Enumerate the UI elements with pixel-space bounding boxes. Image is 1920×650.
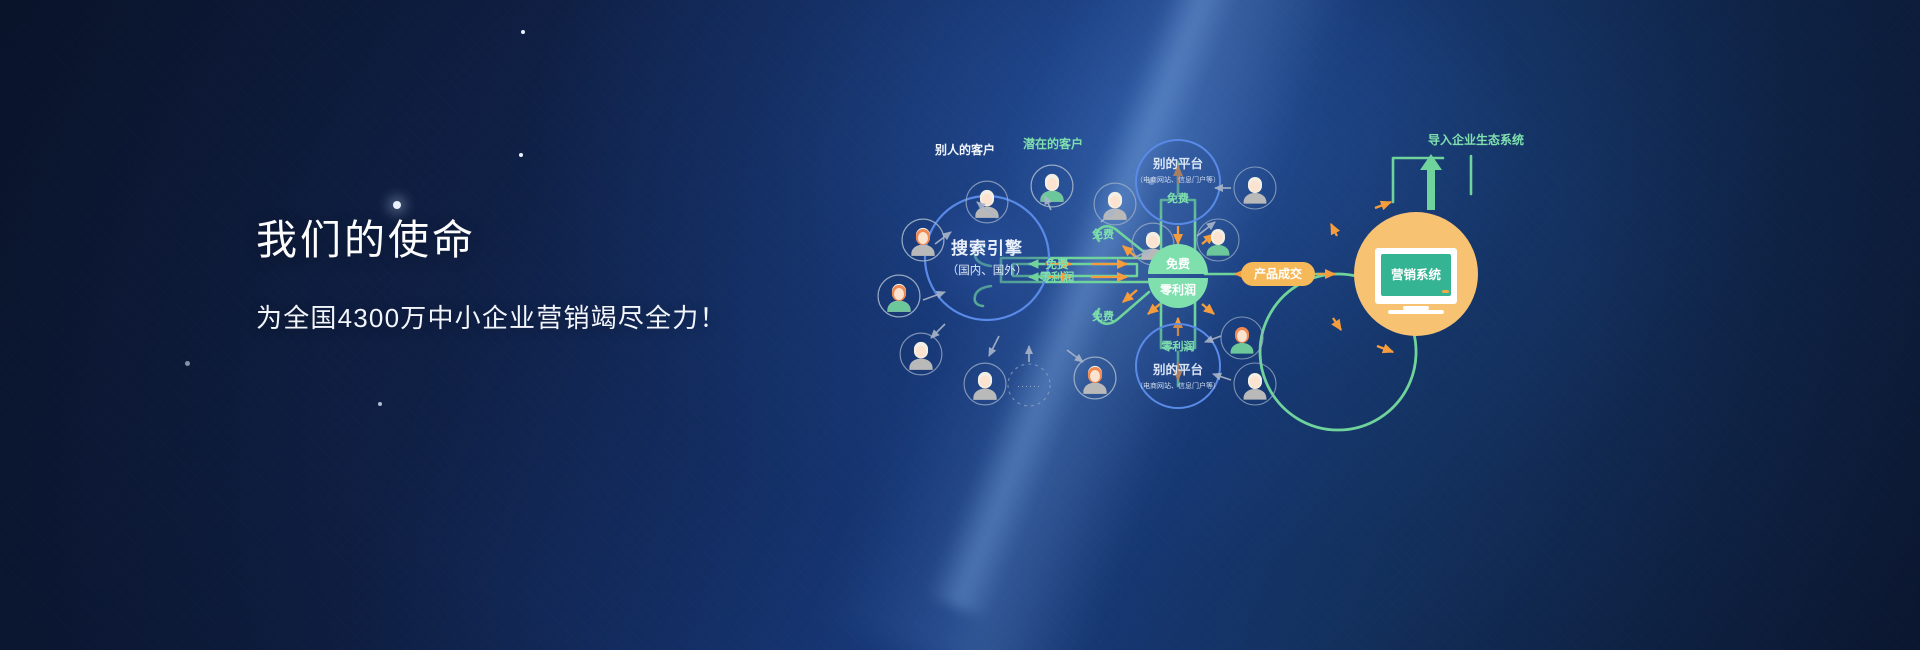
search-engine-title: 搜索引擎 [951, 238, 1023, 258]
label-potential-customers: 潜在的客户 [1023, 136, 1083, 151]
sparkle-dot [521, 30, 525, 34]
avatar-highlight [1074, 357, 1116, 399]
avatar [1197, 219, 1239, 261]
marketing-system-label: 营销系统 [1391, 267, 1442, 282]
avatar [1234, 167, 1276, 209]
marketing-ecosystem-diagram: 搜索引擎 （国内、国外） use[href="#av"] { } #av .ha… [905, 140, 1525, 540]
flow-label-free-upper: 免费 [1092, 227, 1114, 241]
sparkle-dot [378, 402, 382, 406]
platform-top-subtitle: （电商网站、信息门户等） [1136, 175, 1220, 184]
avatar [900, 333, 942, 375]
hero-text-block: 我们的使命 为全国4300万中小企业营销竭尽全力！ [256, 216, 727, 335]
platform-bottom-subtitle: （电商网站、信息门户等） [1136, 381, 1220, 390]
dotted-placeholder-node: ······ [1008, 364, 1050, 406]
platform-top-badge: 免费 [1167, 191, 1189, 205]
sparkle-dot [393, 201, 401, 209]
avatar [1094, 183, 1136, 225]
avatar [1234, 363, 1276, 405]
deal-pill-node: 产品成交 [1241, 262, 1315, 286]
avatar-highlight [1031, 165, 1073, 207]
platform-top-title: 别的平台 [1152, 156, 1203, 171]
dotted-placeholder-label: ······ [1017, 381, 1041, 391]
central-hub-node: 免费 零利润 [1148, 244, 1208, 308]
marketing-system-node: 营销系统 [1354, 212, 1478, 336]
platform-top-node: 别的平台 （电商网站、信息门户等） 免费 [1136, 140, 1220, 224]
hub-label-free: 免费 [1166, 256, 1190, 271]
avatar [1221, 317, 1263, 359]
label-import-ecosystem: 导入企业生态系统 [1428, 132, 1524, 147]
import-arrow-icon [1420, 154, 1442, 210]
hub-label-zero-profit: 零利润 [1159, 282, 1196, 297]
flow-label-free-left: 免费 [1046, 257, 1069, 271]
platform-bottom-title: 别的平台 [1152, 362, 1203, 377]
label-others-customers: 别人的客户 [934, 142, 995, 157]
search-engine-subtitle: （国内、国外） [947, 263, 1028, 277]
avatar [964, 363, 1006, 405]
hero-subtitle: 为全国4300万中小企业营销竭尽全力！ [256, 298, 727, 335]
page-title: 我们的使命 [256, 216, 727, 265]
flow-label-free-lower: 免费 [1092, 309, 1114, 323]
platform-bottom-node: 零利润 别的平台 （电商网站、信息门户等） [1136, 324, 1220, 408]
deal-pill-label: 产品成交 [1254, 266, 1302, 281]
sparkle-dot [519, 153, 523, 157]
sparkle-dot [185, 361, 190, 366]
platform-bottom-badge: 零利润 [1161, 339, 1195, 353]
